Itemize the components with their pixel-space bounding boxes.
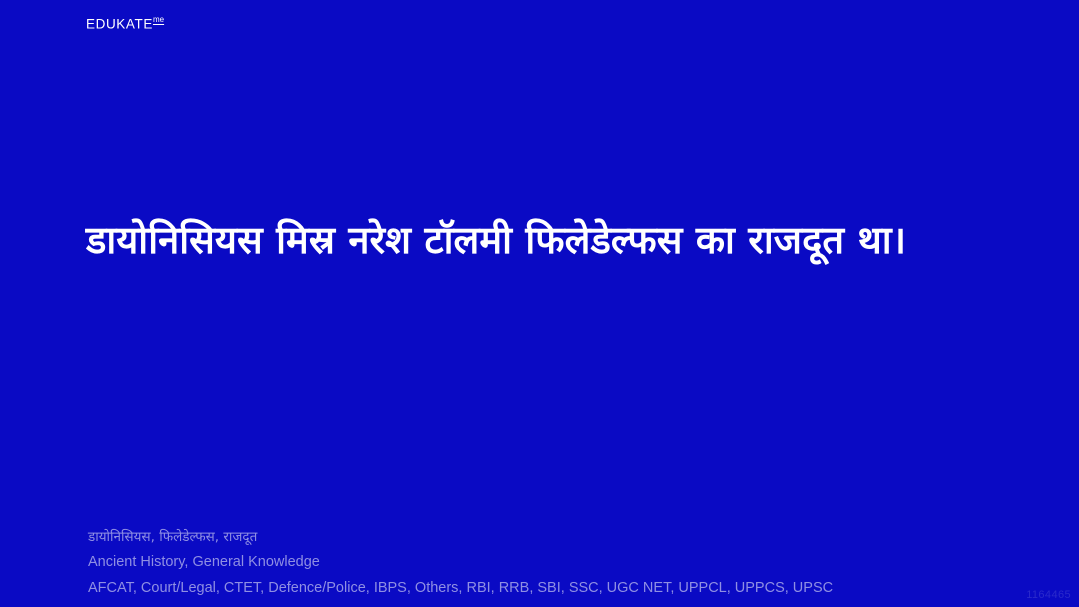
- meta-exams: AFCAT, Court/Legal, CTET, Defence/Police…: [88, 576, 1048, 602]
- meta-subjects: Ancient History, General Knowledge: [88, 550, 1048, 576]
- brand-suffix: me: [153, 15, 164, 24]
- slide-meta: डायोनिसियस, फिलेडेल्फस, राजदूत Ancient H…: [88, 525, 1048, 602]
- brand-logo[interactable]: EDUKATEme: [86, 17, 164, 31]
- meta-tags: डायोनिसियस, फिलेडेल्फस, राजदूत: [88, 525, 1048, 551]
- slide-canvas: EDUKATEme डायोनिसियस मिस्र नरेश टॉलमी फि…: [0, 0, 1079, 607]
- brand-name: EDUKATE: [86, 17, 153, 32]
- watermark-id: 1164465: [1026, 589, 1071, 601]
- slide-headline: डायोनिसियस मिस्र नरेश टॉलमी फिलेडेल्फस क…: [86, 212, 966, 270]
